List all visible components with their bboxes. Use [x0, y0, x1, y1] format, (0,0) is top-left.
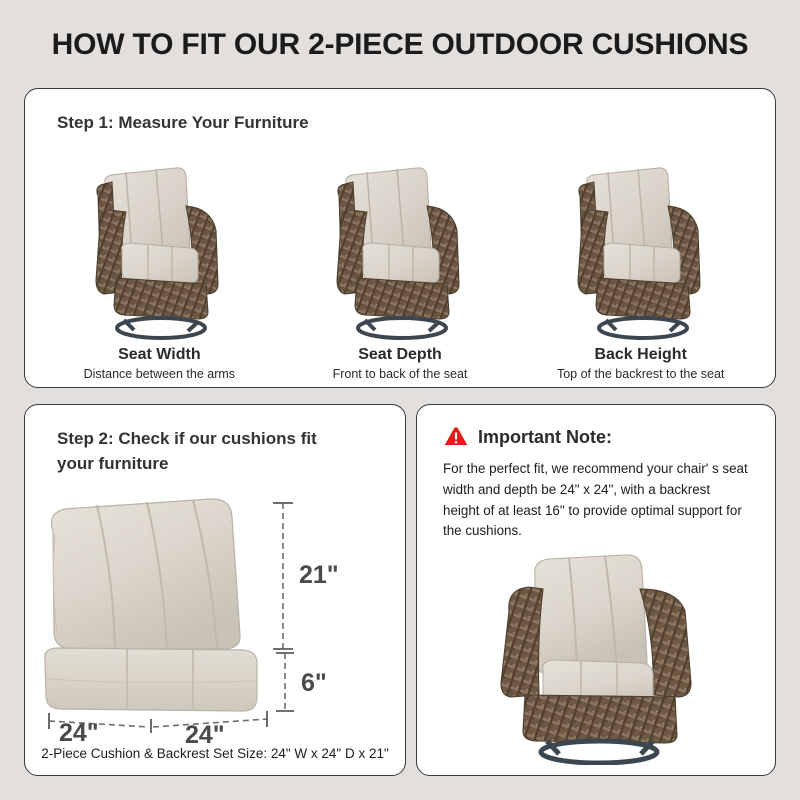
note-header: Important Note:: [443, 425, 612, 449]
measurement-item-seat-width: Seat Width Distance between the arms: [39, 141, 280, 381]
step2-panel: Step 2: Check if our cushions fit your f…: [24, 404, 406, 776]
step2-heading: Step 2: Check if our cushions fit your f…: [57, 427, 357, 476]
measurement-description: Top of the backrest to the seat: [557, 367, 724, 381]
step1-panel: Step 1: Measure Your Furniture: [24, 88, 776, 388]
dim-width-right: 24": [185, 721, 225, 749]
dim-seat-thickness: 6": [301, 669, 327, 697]
measurement-item-back-height: Back Height Top of the backrest to the s…: [520, 141, 761, 381]
dim-backrest-height: 21": [299, 561, 339, 589]
measurement-description: Front to back of the seat: [333, 367, 468, 381]
wicker-swivel-chair-front-icon: [477, 545, 747, 765]
step1-heading: Step 1: Measure Your Furniture: [57, 111, 309, 136]
important-note-panel: Important Note: For the perfect fit, we …: [416, 404, 776, 776]
measurement-item-seat-depth: Seat Depth Front to back of the seat: [280, 141, 521, 381]
cushion-set-size-caption: 2-Piece Cushion & Backrest Set Size: 24"…: [25, 746, 405, 761]
wicker-swivel-chair-icon: [305, 152, 495, 342]
measurement-description: Distance between the arms: [84, 367, 235, 381]
infographic-page: HOW TO FIT OUR 2-PIECE OUTDOOR CUSHIONS …: [0, 0, 800, 800]
note-body-text: For the perfect fit, we recommend your c…: [443, 459, 749, 542]
page-title: HOW TO FIT OUR 2-PIECE OUTDOOR CUSHIONS: [0, 28, 800, 62]
wicker-swivel-chair-icon: [64, 152, 254, 342]
two-piece-cushion-diagram: 21" 6": [35, 483, 397, 733]
step1-chair-row: Seat Width Distance between the arms: [39, 141, 761, 381]
note-title: Important Note:: [478, 427, 612, 448]
dim-width-left: 24": [59, 719, 99, 747]
wicker-swivel-chair-icon: [546, 152, 736, 342]
measurement-name: Seat Width: [118, 346, 201, 364]
measurement-name: Back Height: [594, 346, 686, 364]
warning-triangle-icon: [443, 425, 469, 449]
measurement-name: Seat Depth: [358, 346, 442, 364]
